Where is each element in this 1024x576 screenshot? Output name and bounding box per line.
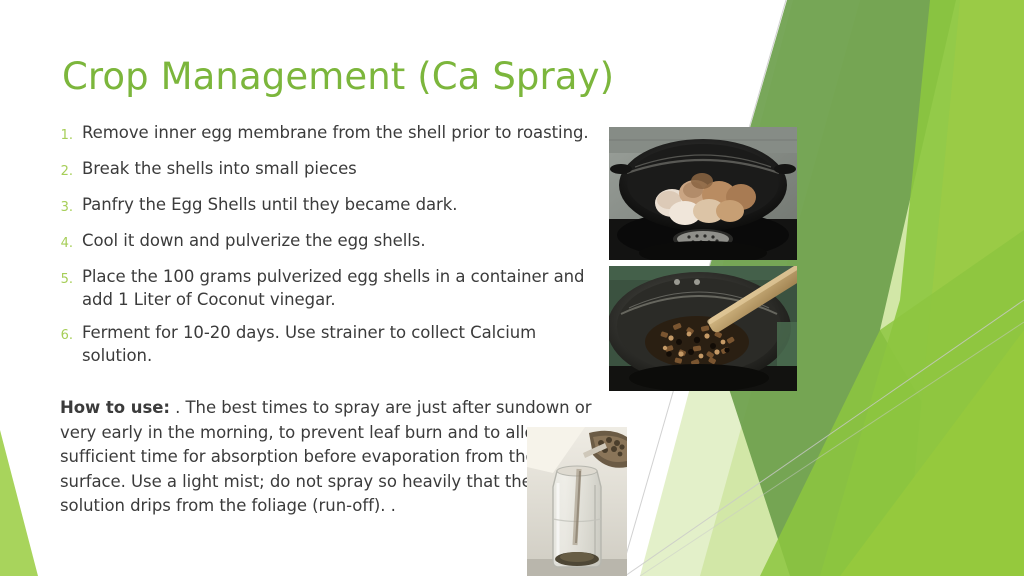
list-item-text: Cool it down and pulverize the egg shell… — [82, 230, 597, 253]
how-to-use-label: How to use: — [60, 398, 170, 417]
list-item-text: Break the shells into small pieces — [82, 158, 597, 181]
how-to-use-paragraph: How to use: . The best times to spray ar… — [60, 396, 600, 519]
list-item-number: 2. — [52, 158, 82, 183]
photo-wok-with-egg-shells — [609, 127, 797, 260]
deco-green-lower — [760, 230, 1024, 576]
list-item: 1. Remove inner egg membrane from the sh… — [52, 122, 597, 147]
deco-green-mid — [820, 0, 1024, 576]
deco-green-lowest — [840, 330, 1024, 576]
list-item: 4. Cool it down and pulverize the egg sh… — [52, 230, 597, 255]
deco-left-wedge — [0, 430, 38, 576]
list-item-text: Place the 100 grams pulverized egg shell… — [82, 266, 597, 311]
photo-wok-with-roasted-shells — [609, 266, 797, 391]
list-item: 3. Panfry the Egg Shells until they beca… — [52, 194, 597, 219]
list-item-text: Panfry the Egg Shells until they became … — [82, 194, 597, 217]
list-item-number: 5. — [52, 266, 82, 291]
steps-list: 1. Remove inner egg membrane from the sh… — [52, 122, 597, 378]
list-item-number: 4. — [52, 230, 82, 255]
page-title: Crop Management (Ca Spray) — [62, 54, 614, 100]
photo-bottle-with-pulverized-shells — [527, 427, 627, 576]
list-item-number: 1. — [52, 122, 82, 147]
list-item-text: Ferment for 10-20 days. Use strainer to … — [82, 322, 597, 367]
slide: Crop Management (Ca Spray) 1. Remove inn… — [0, 0, 1024, 576]
list-item: 5. Place the 100 grams pulverized egg sh… — [52, 266, 597, 311]
list-item: 6. Ferment for 10-20 days. Use strainer … — [52, 322, 597, 367]
list-item: 2. Break the shells into small pieces — [52, 158, 597, 183]
list-item-number: 3. — [52, 194, 82, 219]
list-item-text: Remove inner egg membrane from the shell… — [82, 122, 597, 145]
deco-green-bright-right — [905, 0, 1024, 576]
list-item-number: 6. — [52, 322, 82, 347]
